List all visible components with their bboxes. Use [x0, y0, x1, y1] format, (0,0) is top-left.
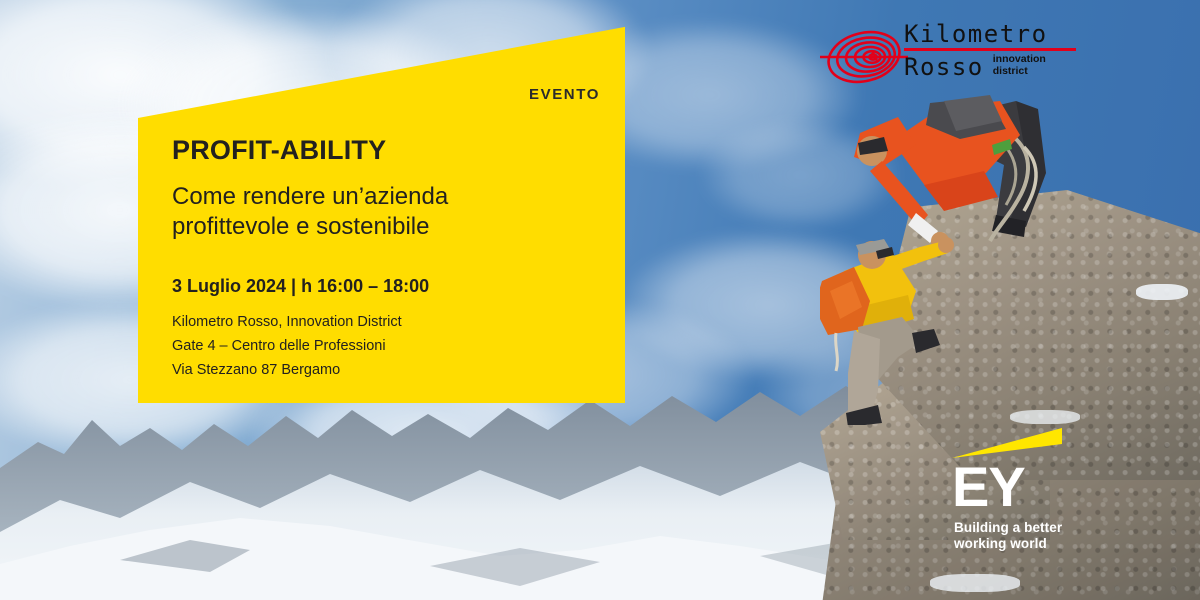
event-details: PROFIT-ABILITY Come rendere un’azienda p… [172, 135, 602, 382]
logo-word-kilometro: Kilometro [904, 22, 1084, 47]
event-subtitle: Come rendere un’azienda profittevole e s… [172, 182, 602, 242]
address-line-3: Via Stezzano 87 Bergamo [172, 358, 602, 382]
event-kicker-label: EVENTO [529, 86, 600, 103]
address-line-1: Kilometro Rosso, Innovation District [172, 310, 602, 334]
address-line-2: Gate 4 – Centro delle Professioni [172, 334, 602, 358]
climber-lower-yellow [820, 237, 954, 425]
logo-tagline-line-1: innovation [993, 53, 1046, 65]
page-title: PROFIT-ABILITY [172, 135, 602, 166]
snow-patch [930, 574, 1020, 592]
logo-tagline: innovation district [993, 53, 1046, 81]
logo-tagline-line-2: district [993, 65, 1046, 77]
poster-canvas: EVENTO PROFIT-ABILITY Come rendere un’az… [0, 0, 1200, 600]
ey-tagline-line-2: working world [954, 536, 1094, 552]
climber-upper-orange [854, 95, 1046, 250]
kilometro-rosso-wordmark: Kilometro Rosso innovation district [904, 22, 1084, 81]
spiral-swirl-icon [818, 24, 910, 90]
ey-logo: EY Building a better working world [952, 428, 1092, 558]
event-address: Kilometro Rosso, Innovation District Gat… [172, 310, 602, 383]
climbers-illustration [820, 95, 1090, 425]
event-date-time: 3 Luglio 2024 | h 16:00 – 18:00 [172, 276, 602, 297]
event-subtitle-line-1: Come rendere un’azienda [172, 182, 602, 212]
kilometro-rosso-logo: Kilometro Rosso innovation district [818, 22, 1078, 94]
event-subtitle-line-2: profittevole e sostenibile [172, 212, 602, 242]
ey-tagline-line-1: Building a better [954, 520, 1094, 536]
logo-word-rosso: Rosso [904, 55, 984, 80]
ey-wordmark: EY [952, 460, 1025, 513]
snow-patch [1136, 284, 1188, 300]
logo-red-rule [904, 48, 1076, 51]
ey-tagline: Building a better working world [954, 520, 1094, 551]
